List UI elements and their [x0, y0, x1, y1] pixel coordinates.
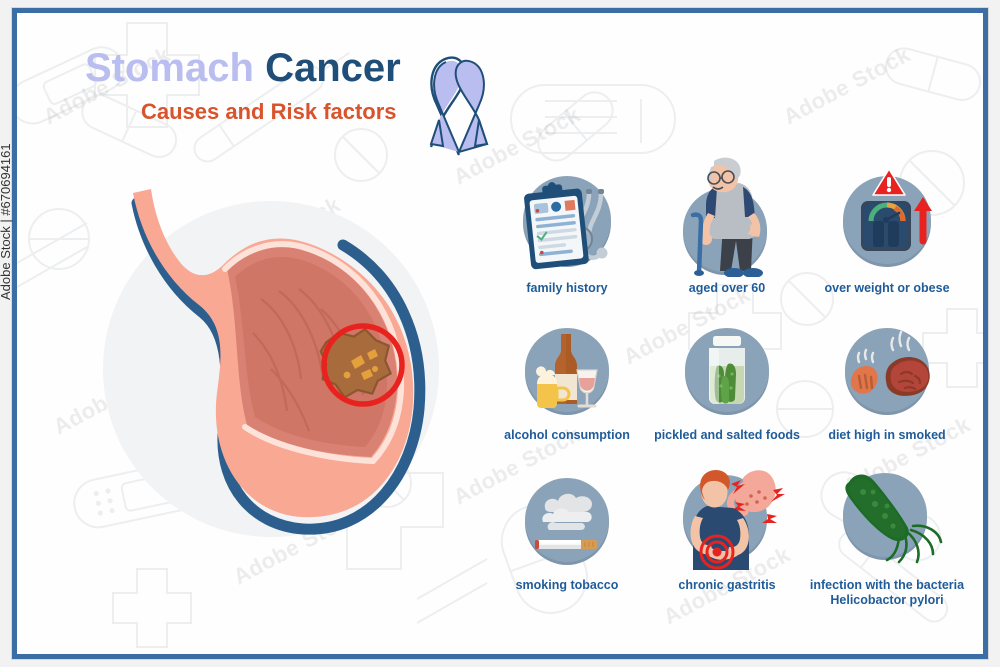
risk-factor-label: diet high in smoked — [807, 428, 967, 443]
label-line-1: infection with the bacteria — [810, 578, 964, 592]
title-word-stomach: Stomach — [85, 46, 254, 90]
risk-factor-smoked-diet[interactable]: diet high in smoked — [807, 310, 967, 443]
risk-factor-over-weight[interactable]: over weight or obese — [807, 153, 967, 296]
title-block: Stomach Cancer Causes and Risk factors — [85, 47, 401, 125]
risk-factor-label: aged over 60 — [647, 281, 807, 296]
awareness-ribbon-icon — [421, 47, 497, 159]
poster-canvas: Adobe Stock Adobe Stock Adobe Stock Adob… — [17, 13, 983, 654]
smoked-meat-steak-icon — [835, 318, 939, 422]
risk-factor-row: alcohol consumption — [487, 310, 967, 443]
risk-factor-label: family history — [487, 281, 647, 296]
label-line-2: Helicobactor pylori — [830, 593, 943, 607]
alcohol-bottle-beer-wine-icon — [515, 318, 619, 422]
risk-factor-alcohol[interactable]: alcohol consumption — [487, 310, 647, 443]
risk-factor-grid: family history — [487, 153, 967, 608]
risk-factor-smoking[interactable]: smoking tobacco — [487, 460, 647, 609]
risk-factor-row: smoking tobacco — [487, 460, 967, 609]
risk-factor-h-pylori[interactable]: infection with the bacteria Helicobactor… — [807, 460, 967, 609]
stomach-illustration — [75, 173, 475, 578]
risk-factor-label: alcohol consumption — [487, 428, 647, 443]
page-subtitle: Causes and Risk factors — [141, 99, 401, 125]
page-title: Stomach Cancer — [85, 47, 401, 89]
elderly-man-with-cane-icon — [667, 155, 787, 277]
risk-factor-chronic-gastritis[interactable]: chronic gastritis — [647, 460, 807, 609]
risk-factor-pickled-foods[interactable]: pickled and salted foods — [647, 310, 807, 443]
clipboard-stethoscope-icon — [515, 165, 619, 275]
title-word-cancer: Cancer — [265, 46, 401, 90]
watermark-text: Adobe Stock — [779, 42, 915, 131]
risk-factor-label: over weight or obese — [807, 281, 967, 296]
risk-factor-label: chronic gastritis — [647, 578, 807, 593]
cigarette-smoke-icon — [515, 468, 619, 572]
weight-scale-warning-icon — [833, 163, 941, 275]
risk-factor-aged-over-60[interactable]: aged over 60 — [647, 153, 807, 296]
risk-factor-family-history[interactable]: family history — [487, 153, 647, 296]
risk-factor-label: smoking tobacco — [487, 578, 647, 593]
man-stomach-pain-icon — [669, 462, 785, 574]
stock-watermark-id: Adobe Stock | #670694161 — [0, 143, 13, 300]
poster-frame: Adobe Stock Adobe Stock Adobe Stock Adob… — [12, 8, 988, 659]
risk-factor-label: pickled and salted foods — [647, 428, 807, 443]
risk-factor-row: family history — [487, 153, 967, 296]
pickle-jar-icon — [675, 318, 779, 422]
pain-target — [701, 536, 733, 568]
risk-factor-label: infection with the bacteria Helicobactor… — [807, 578, 967, 609]
h-pylori-bacteria-icon — [829, 460, 945, 572]
